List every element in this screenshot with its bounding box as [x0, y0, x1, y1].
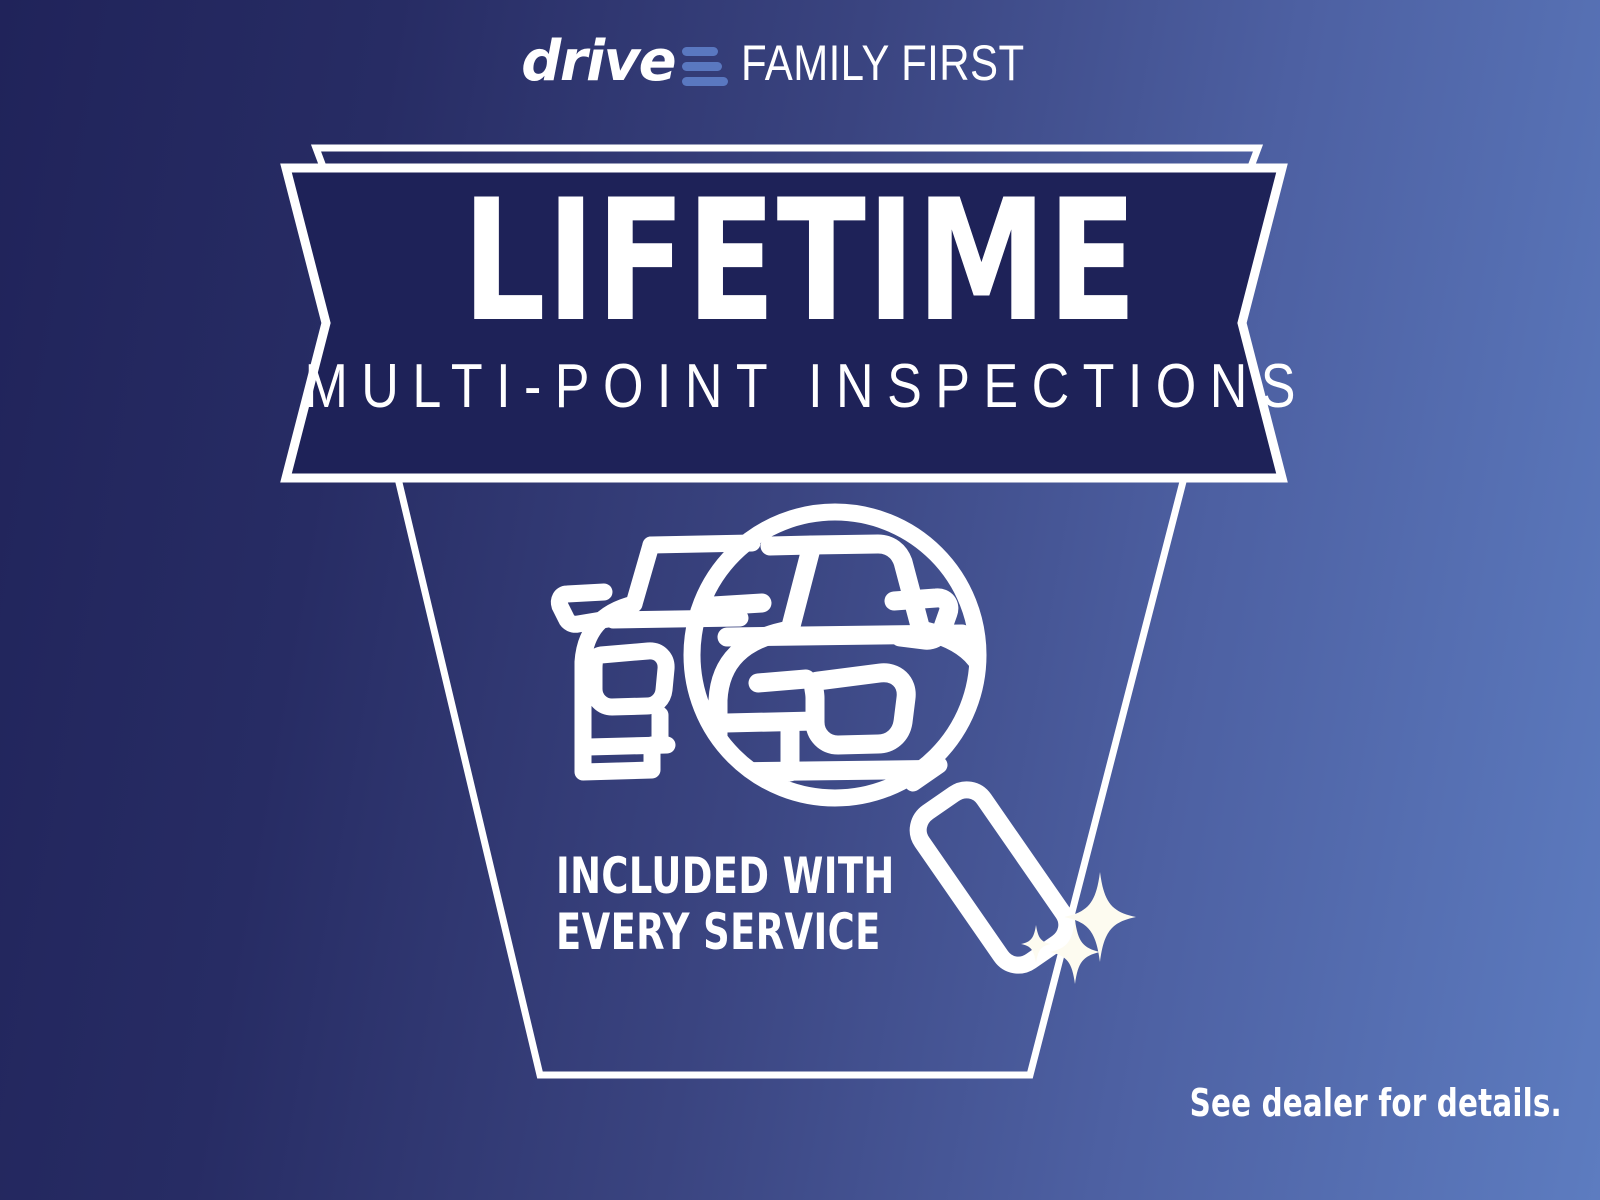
disclaimer-text: See dealer for details. — [1190, 1084, 1562, 1122]
car-front-magnified — [713, 544, 990, 830]
poster-artwork — [0, 0, 1600, 1200]
ribbon-banner — [286, 168, 1282, 478]
caption-line-1: INCLUDED WITH — [556, 848, 941, 904]
promo-poster: drive FAMILY FIRST — [0, 0, 1600, 1200]
caption-block: INCLUDED WITH EVERY SERVICE — [556, 848, 1026, 960]
caption-line-2: EVERY SERVICE — [556, 904, 941, 960]
